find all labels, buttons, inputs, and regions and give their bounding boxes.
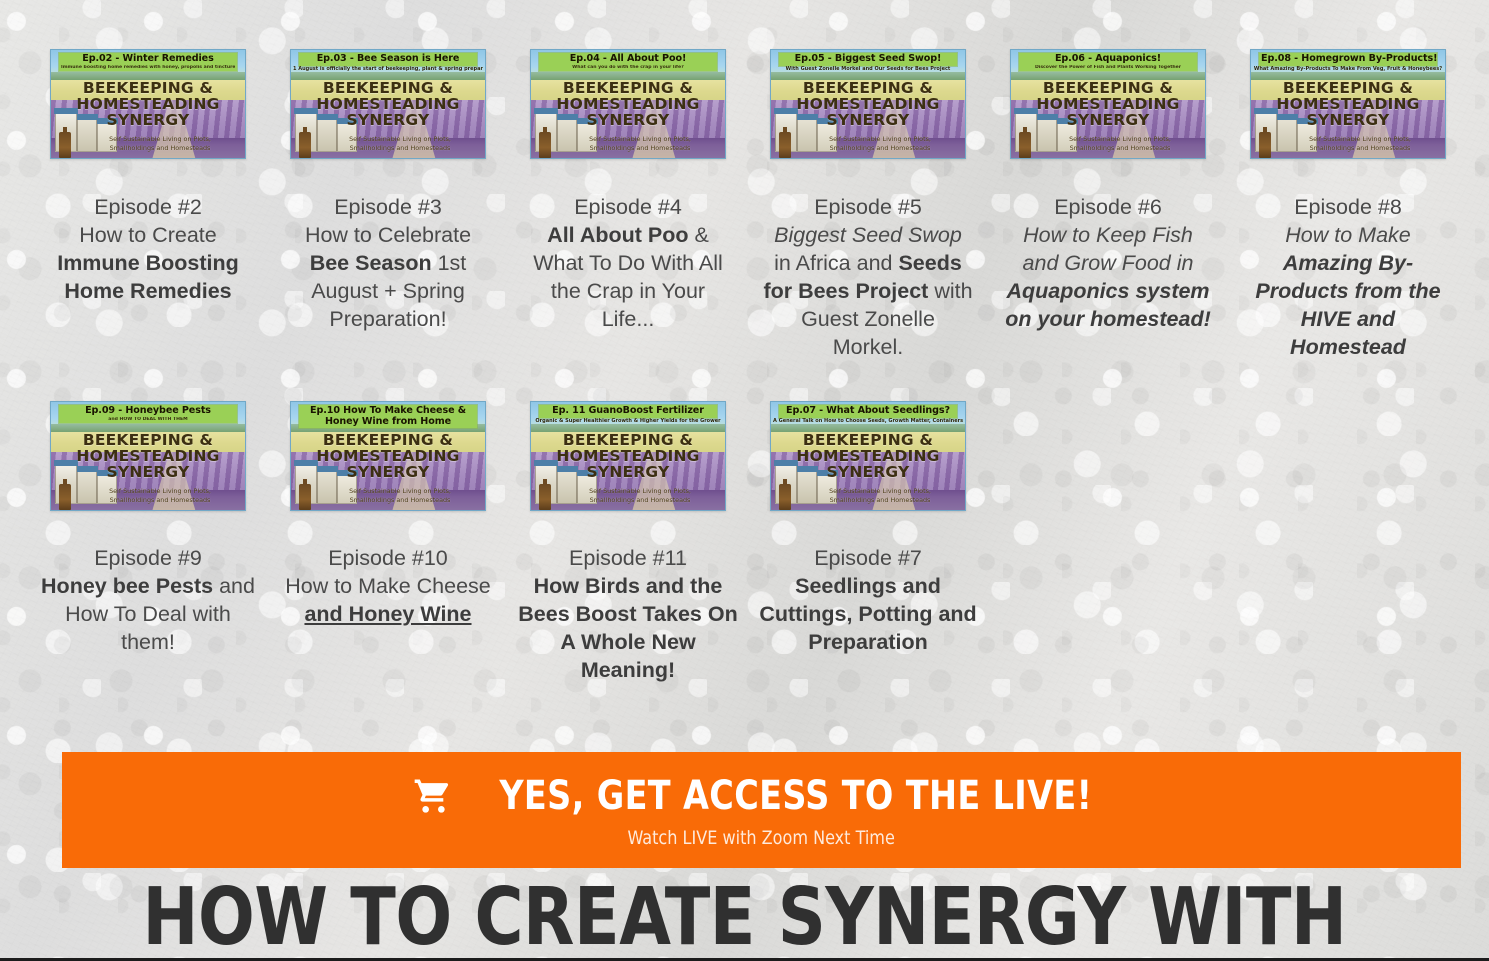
- episode-number-label: Episode #6: [1054, 195, 1162, 219]
- thumb-title-line-3: SYNERGY: [531, 465, 725, 481]
- thumb-title-line-3: SYNERGY: [51, 113, 245, 129]
- thumb-title-line-3: SYNERGY: [51, 465, 245, 481]
- page-root: BEEKEEPING & HOMESTEADING SYNERGY Self S…: [0, 0, 1489, 961]
- thumb-series-title: BEEKEEPING & HOMESTEADING SYNERGY: [51, 433, 245, 480]
- thumb-title-line-3: SYNERGY: [771, 465, 965, 481]
- episode-thumbnail-8[interactable]: BEEKEEPING & HOMESTEADING SYNERGY Self S…: [1250, 49, 1446, 159]
- caption-line: Preparation!: [329, 307, 446, 331]
- caption-line-bold-italic: Products from the: [1255, 279, 1440, 303]
- episode-caption-4: Episode #4 All About Poo & What To Do Wi…: [514, 193, 742, 333]
- caption-line-bold: Seeds: [898, 251, 961, 275]
- episode-number-label: Episode #8: [1294, 195, 1402, 219]
- episode-caption-10: Episode #10 How to Make Cheese and Honey…: [274, 544, 502, 628]
- thumb-series-title: BEEKEEPING & HOMESTEADING SYNERGY: [531, 433, 725, 480]
- episode-card-2[interactable]: BEEKEEPING & HOMESTEADING SYNERGY Self S…: [28, 0, 268, 361]
- thumb-banner-subtitle: Immune boosting home remedies with honey…: [61, 65, 235, 71]
- caption-line-bold: Bee Season: [310, 251, 432, 275]
- episode-thumbnail-2[interactable]: BEEKEEPING & HOMESTEADING SYNERGY Self S…: [50, 49, 246, 159]
- caption-line: Guest Zonelle: [801, 307, 935, 331]
- thumb-series-title: BEEKEEPING & HOMESTEADING SYNERGY: [291, 81, 485, 128]
- caption-line: How to Create: [79, 223, 216, 247]
- thumb-episode-banner-10: Ep.10 How To Make Cheese & Honey Wine fr…: [299, 405, 477, 428]
- caption-line-italic: How to Keep Fish: [1023, 223, 1193, 247]
- thumb-tagline: Self Sustainable Living on Plots, Smallh…: [321, 487, 479, 505]
- caption-line-bold-italic: Amazing By-: [1283, 251, 1413, 275]
- thumb-tagline-line-1: Self Sustainable Living on Plots,: [589, 135, 691, 143]
- thumb-banner-title: Ep.09 - Honeybee Pests: [61, 406, 235, 417]
- thumb-banner-title: Ep. 11 GuanoBoost Fertilizer: [541, 406, 715, 417]
- caption-line-bold-italic: Homestead: [1290, 335, 1406, 359]
- episode-number-label: Episode #4: [574, 195, 682, 219]
- thumb-tagline-line-2: Smallholdings and Homesteads: [830, 144, 931, 152]
- thumb-tagline-line-1: Self Sustainable Living on Plots,: [109, 135, 211, 143]
- thumb-banner-subtitle: Discover the Power of Fish and Plants Wo…: [1021, 65, 1195, 71]
- caption-line-bold: Cuttings, Potting and: [759, 602, 976, 626]
- thumb-banner-subtitle: Organic & Super Healthier Growth & Highe…: [533, 418, 723, 424]
- thumb-title-line-3: SYNERGY: [291, 113, 485, 129]
- caption-line: Home Remedies: [64, 279, 231, 303]
- episode-card-7[interactable]: BEEKEEPING & HOMESTEADING SYNERGY Self S…: [748, 379, 988, 684]
- episode-thumbnail-9[interactable]: BEEKEEPING & HOMESTEADING SYNERGY Self S…: [50, 401, 246, 511]
- episode-thumbnail-link-7[interactable]: BEEKEEPING & HOMESTEADING SYNERGY Self S…: [770, 401, 966, 511]
- cta-main-row: YES, GET ACCESS TO THE LIVE!: [409, 776, 1115, 816]
- episode-thumbnail-3[interactable]: BEEKEEPING & HOMESTEADING SYNERGY Self S…: [290, 49, 486, 159]
- thumb-episode-banner-8: Ep.08 - Homegrown By-Products! What Amaz…: [1259, 53, 1437, 66]
- thumb-tagline-line-1: Self Sustainable Living on Plots,: [589, 487, 691, 495]
- thumb-tagline-line-1: Self Sustainable Living on Plots,: [1069, 135, 1171, 143]
- episode-grid: BEEKEEPING & HOMESTEADING SYNERGY Self S…: [28, 0, 1468, 684]
- thumb-banner-subtitle: With Guest Zonelle Morkel and Our Seeds …: [773, 66, 963, 72]
- episode-caption-6: Episode #6 How to Keep Fish and Grow Foo…: [994, 193, 1222, 333]
- thumb-banner-subtitle: 1 August is officially the start of beek…: [293, 66, 483, 72]
- thumb-series-title: BEEKEEPING & HOMESTEADING SYNERGY: [291, 433, 485, 480]
- shopping-cart-icon: [409, 776, 455, 816]
- episode-thumbnail-link-11[interactable]: BEEKEEPING & HOMESTEADING SYNERGY Self S…: [530, 401, 726, 511]
- thumb-episode-banner-9: Ep.09 - Honeybee Pests and HOW TO DEAL W…: [59, 405, 237, 423]
- thumb-banner-title: Ep.07 - What About Seedlings?: [781, 406, 955, 417]
- thumb-banner-title: Ep.05 - Biggest Seed Swop!: [781, 54, 955, 65]
- episode-thumbnail-5[interactable]: BEEKEEPING & HOMESTEADING SYNERGY Self S…: [770, 49, 966, 159]
- caption-line-bold: All About Poo: [547, 223, 688, 247]
- caption-line: How To Deal with: [65, 602, 231, 626]
- thumb-tagline: Self Sustainable Living on Plots, Smallh…: [561, 487, 719, 505]
- thumb-banner-subtitle: What Amazing By-Products To Make From Ve…: [1253, 66, 1443, 72]
- thumb-bottle: [1019, 132, 1031, 158]
- episode-thumbnail-7[interactable]: BEEKEEPING & HOMESTEADING SYNERGY Self S…: [770, 401, 966, 511]
- episode-caption-5: Episode #5 Biggest Seed Swop in Africa a…: [754, 193, 982, 361]
- thumb-series-title: BEEKEEPING & HOMESTEADING SYNERGY: [531, 81, 725, 128]
- caption-line: Immune Boosting: [57, 251, 239, 275]
- caption-line-bold-italic: HIVE and: [1301, 307, 1395, 331]
- episode-card-10[interactable]: BEEKEEPING & HOMESTEADING SYNERGY Self S…: [268, 379, 508, 684]
- thumb-bottle: [539, 132, 551, 158]
- thumb-tagline: Self Sustainable Living on Plots, Smallh…: [1041, 135, 1199, 153]
- thumb-tagline-line-2: Smallholdings and Homesteads: [830, 496, 931, 504]
- thumb-tagline: Self Sustainable Living on Plots, Smallh…: [801, 487, 959, 505]
- thumb-tagline: Self Sustainable Living on Plots, Smallh…: [81, 135, 239, 153]
- cta-sublabel: Watch LIVE with Zoom Next Time: [628, 827, 895, 849]
- thumb-bottle: [779, 132, 791, 158]
- thumb-title-line-3: SYNERGY: [1251, 113, 1445, 129]
- thumb-tagline-line-1: Self Sustainable Living on Plots,: [349, 487, 451, 495]
- episode-number-label: Episode #5: [814, 195, 922, 219]
- thumb-tagline-line-2: Smallholdings and Homesteads: [350, 144, 451, 152]
- thumb-tagline: Self Sustainable Living on Plots, Smallh…: [801, 135, 959, 153]
- episode-caption-2: Episode #2 How to Create Immune Boosting…: [34, 193, 262, 305]
- episode-thumbnail-link-10[interactable]: BEEKEEPING & HOMESTEADING SYNERGY Self S…: [290, 401, 486, 511]
- caption-line: the Crap in Your: [551, 279, 705, 303]
- caption-line-bold-italic: on your homestead!: [1005, 307, 1210, 331]
- thumb-banner-subtitle: A General Talk on How to Choose Seeds, G…: [773, 418, 963, 424]
- caption-line: August + Spring: [311, 279, 465, 303]
- thumb-tagline-line-2: Smallholdings and Homesteads: [110, 144, 211, 152]
- caption-line: &: [694, 223, 708, 247]
- episode-number-label: Episode #11: [569, 546, 687, 570]
- thumb-episode-banner-3: Ep.03 - Bee Season is Here 1 August is o…: [299, 53, 477, 66]
- caption-line: How to Make Cheese: [285, 574, 491, 598]
- thumb-bottle: [1259, 132, 1271, 158]
- episode-caption-3: Episode #3 How to Celebrate Bee Season 1…: [274, 193, 502, 333]
- caption-line: with: [934, 279, 972, 303]
- thumb-tagline: Self Sustainable Living on Plots, Smallh…: [321, 135, 479, 153]
- thumb-title-line-3: SYNERGY: [771, 113, 965, 129]
- episode-card-3[interactable]: BEEKEEPING & HOMESTEADING SYNERGY Self S…: [268, 0, 508, 361]
- episode-caption-7: Episode #7 Seedlings and Cuttings, Potti…: [754, 544, 982, 656]
- episode-card-11[interactable]: BEEKEEPING & HOMESTEADING SYNERGY Self S…: [508, 379, 748, 684]
- caption-line-bold-underline: and Honey Wine: [304, 602, 471, 626]
- episode-thumbnail-link-8[interactable]: BEEKEEPING & HOMESTEADING SYNERGY Self S…: [1250, 49, 1446, 159]
- get-access-cta-button[interactable]: YES, GET ACCESS TO THE LIVE! Watch LIVE …: [62, 752, 1461, 868]
- thumb-banner-title: Ep.08 - Homegrown By-Products!: [1261, 54, 1435, 65]
- caption-line: What To Do With All: [533, 251, 723, 275]
- thumb-episode-banner-6: Ep.06 - Aquaponics! Discover the Power o…: [1019, 53, 1197, 71]
- page-headline: HOW TO CREATE SYNERGY WITH: [45, 874, 1445, 959]
- thumb-title-line-3: SYNERGY: [291, 465, 485, 481]
- caption-line-bold: A Whole New: [560, 630, 695, 654]
- thumb-banner-subtitle: What can you do with the crap in your li…: [541, 65, 715, 71]
- caption-line-italic: and Grow Food in: [1023, 251, 1194, 275]
- episode-thumbnail-link-3[interactable]: BEEKEEPING & HOMESTEADING SYNERGY Self S…: [290, 49, 486, 159]
- caption-line: in Africa and: [774, 251, 892, 275]
- thumb-bottle: [539, 484, 551, 510]
- episode-card-8[interactable]: BEEKEEPING & HOMESTEADING SYNERGY Self S…: [1228, 0, 1468, 361]
- episode-caption-9: Episode #9 Honey bee Pests and How To De…: [34, 544, 262, 656]
- thumb-episode-banner-2: Ep.02 - Winter Remedies Immune boosting …: [59, 53, 237, 71]
- caption-line: How to Celebrate: [305, 223, 471, 247]
- thumb-tagline-line-1: Self Sustainable Living on Plots,: [829, 135, 931, 143]
- episode-number-label: Episode #9: [94, 546, 202, 570]
- thumb-tagline: Self Sustainable Living on Plots, Smallh…: [81, 487, 239, 505]
- thumb-tagline-line-2: Smallholdings and Homesteads: [590, 496, 691, 504]
- caption-line-bold: Honey bee Pests: [41, 574, 213, 598]
- thumb-episode-banner-5: Ep.05 - Biggest Seed Swop! With Guest Zo…: [779, 53, 957, 66]
- episode-thumbnail-link-2[interactable]: BEEKEEPING & HOMESTEADING SYNERGY Self S…: [50, 49, 246, 159]
- episode-thumbnail-link-5[interactable]: BEEKEEPING & HOMESTEADING SYNERGY Self S…: [770, 49, 966, 159]
- caption-line-bold: Seedlings and: [795, 574, 941, 598]
- thumb-series-title: BEEKEEPING & HOMESTEADING SYNERGY: [771, 433, 965, 480]
- episode-thumbnail-link-6[interactable]: BEEKEEPING & HOMESTEADING SYNERGY Self S…: [1010, 49, 1206, 159]
- episode-thumbnail-link-4[interactable]: BEEKEEPING & HOMESTEADING SYNERGY Self S…: [530, 49, 726, 159]
- episode-number-label: Episode #3: [334, 195, 442, 219]
- episode-thumbnail-11[interactable]: BEEKEEPING & HOMESTEADING SYNERGY Self S…: [530, 401, 726, 511]
- thumb-bottle: [59, 484, 71, 510]
- thumb-tagline: Self Sustainable Living on Plots, Smallh…: [561, 135, 719, 153]
- episode-caption-8: Episode #8 How to Make Amazing By- Produ…: [1234, 193, 1462, 361]
- thumb-episode-banner-7: Ep.07 - What About Seedlings? A General …: [779, 405, 957, 418]
- caption-line-bold: Bees Boost Takes On: [518, 602, 737, 626]
- caption-line: them!: [121, 630, 175, 654]
- episode-card-4[interactable]: BEEKEEPING & HOMESTEADING SYNERGY Self S…: [508, 0, 748, 361]
- caption-line-bold: Meaning!: [581, 658, 675, 682]
- episode-thumbnail-link-9[interactable]: BEEKEEPING & HOMESTEADING SYNERGY Self S…: [50, 401, 246, 511]
- caption-line: Life...: [602, 307, 655, 331]
- episode-thumbnail-6[interactable]: BEEKEEPING & HOMESTEADING SYNERGY Self S…: [1010, 49, 1206, 159]
- caption-line-italic: How to Make: [1285, 223, 1410, 247]
- thumb-series-title: BEEKEEPING & HOMESTEADING SYNERGY: [771, 81, 965, 128]
- caption-line: and: [219, 574, 255, 598]
- caption-line-italic: Biggest Seed Swop: [774, 223, 962, 247]
- thumb-banner-title: Ep.04 - All About Poo!: [541, 54, 715, 65]
- thumb-title-line-3: SYNERGY: [1011, 113, 1205, 129]
- caption-line-bold-italic: Aquaponics system: [1006, 279, 1209, 303]
- thumb-title-line-3: SYNERGY: [531, 113, 725, 129]
- thumb-tagline-line-2: Smallholdings and Homesteads: [350, 496, 451, 504]
- thumb-tagline-line-2: Smallholdings and Homesteads: [1070, 144, 1171, 152]
- thumb-bottle: [59, 132, 71, 158]
- thumb-banner-title: Ep.03 - Bee Season is Here: [301, 54, 475, 65]
- thumb-bottle: [299, 484, 311, 510]
- episode-caption-11: Episode #11 How Birds and the Bees Boost…: [514, 544, 742, 684]
- episode-card-9[interactable]: BEEKEEPING & HOMESTEADING SYNERGY Self S…: [28, 379, 268, 684]
- thumb-tagline: Self Sustainable Living on Plots, Smallh…: [1281, 135, 1439, 153]
- episode-card-5[interactable]: BEEKEEPING & HOMESTEADING SYNERGY Self S…: [748, 0, 988, 361]
- thumb-banner-subtitle: and HOW TO DEAL WITH THEM: [61, 417, 235, 423]
- thumb-tagline-line-2: Smallholdings and Homesteads: [110, 496, 211, 504]
- episode-number-label: Episode #2: [94, 195, 202, 219]
- thumb-tagline-line-2: Smallholdings and Homesteads: [1310, 144, 1411, 152]
- thumb-banner-title: Ep.10 How To Make Cheese & Honey Wine fr…: [301, 406, 475, 427]
- caption-line-bold: How Birds and the: [534, 574, 723, 598]
- thumb-tagline-line-1: Self Sustainable Living on Plots,: [1309, 135, 1411, 143]
- episode-card-6[interactable]: BEEKEEPING & HOMESTEADING SYNERGY Self S…: [988, 0, 1228, 361]
- thumb-tagline-line-2: Smallholdings and Homesteads: [590, 144, 691, 152]
- thumb-tagline-line-1: Self Sustainable Living on Plots,: [829, 487, 931, 495]
- cta-label: YES, GET ACCESS TO THE LIVE!: [499, 776, 1092, 816]
- thumb-banner-title: Ep.02 - Winter Remedies: [61, 54, 235, 65]
- thumb-series-title: BEEKEEPING & HOMESTEADING SYNERGY: [51, 81, 245, 128]
- caption-line: Morkel.: [833, 335, 903, 359]
- thumb-series-title: BEEKEEPING & HOMESTEADING SYNERGY: [1251, 81, 1445, 128]
- thumb-banner-title: Ep.06 - Aquaponics!: [1021, 54, 1195, 65]
- episode-thumbnail-4[interactable]: BEEKEEPING & HOMESTEADING SYNERGY Self S…: [530, 49, 726, 159]
- thumb-episode-banner-11: Ep. 11 GuanoBoost Fertilizer Organic & S…: [539, 405, 717, 418]
- episode-number-label: Episode #10: [328, 546, 448, 570]
- episode-thumbnail-10[interactable]: BEEKEEPING & HOMESTEADING SYNERGY Self S…: [290, 401, 486, 511]
- caption-line: 1st: [438, 251, 467, 275]
- thumb-tagline-line-1: Self Sustainable Living on Plots,: [109, 487, 211, 495]
- thumb-bottle: [779, 484, 791, 510]
- thumb-series-title: BEEKEEPING & HOMESTEADING SYNERGY: [1011, 81, 1205, 128]
- episode-number-label: Episode #7: [814, 546, 922, 570]
- thumb-bottle: [299, 132, 311, 158]
- thumb-tagline-line-1: Self Sustainable Living on Plots,: [349, 135, 451, 143]
- caption-line-bold: Preparation: [808, 630, 927, 654]
- caption-line-bold: for Bees Project: [763, 279, 928, 303]
- thumb-episode-banner-4: Ep.04 - All About Poo! What can you do w…: [539, 53, 717, 71]
